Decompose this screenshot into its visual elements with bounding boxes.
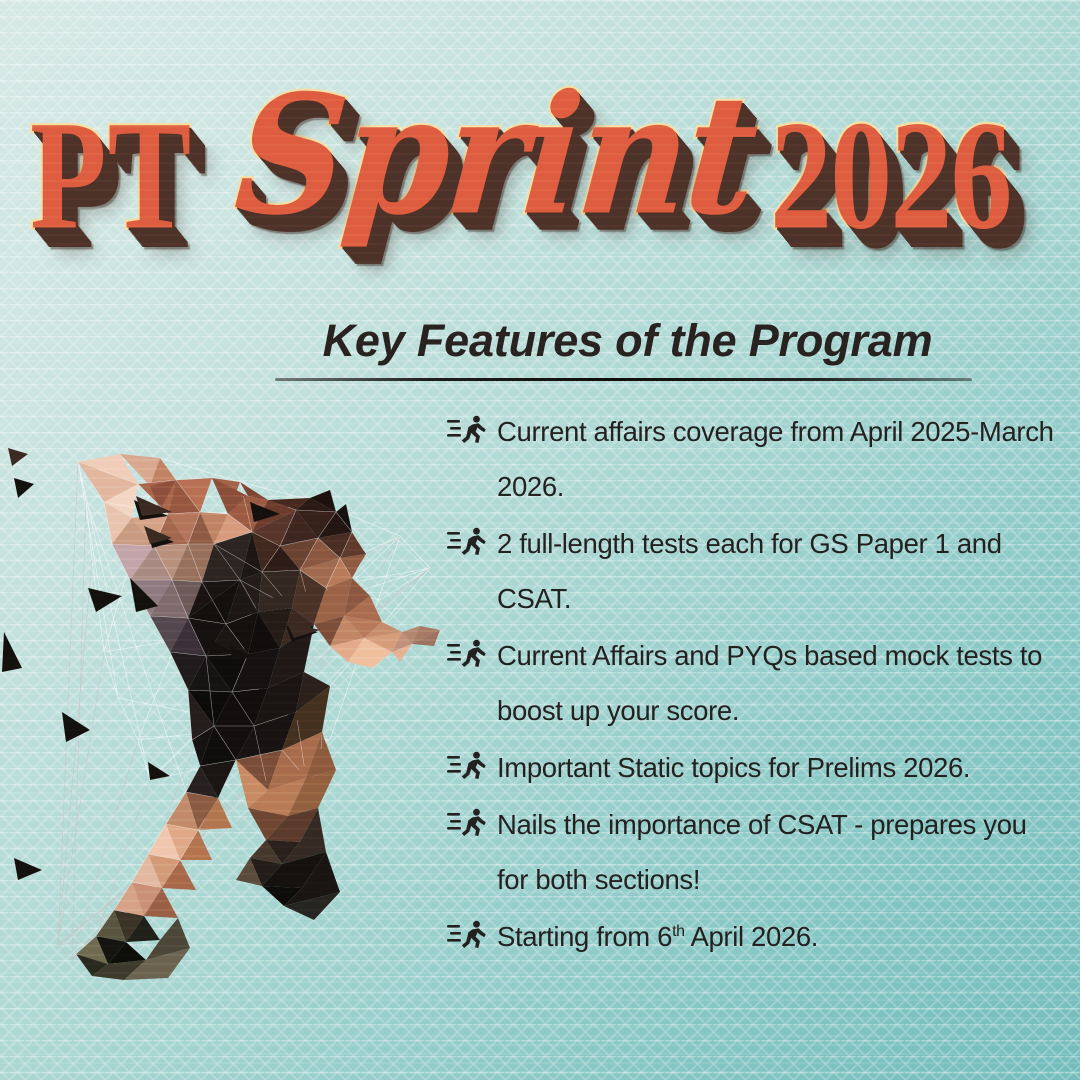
feature-text-start-date: Starting from 6th April 2026. bbox=[497, 909, 1062, 964]
feature-text: Nails the importance of CSAT - prepares … bbox=[497, 797, 1062, 907]
ordinal-suffix: th bbox=[672, 923, 685, 940]
sprinter-body-polygons bbox=[76, 454, 440, 980]
feature-text: Important Static topics for Prelims 2026… bbox=[497, 740, 1062, 795]
poster-title: PT Sprint 2026 bbox=[0, 52, 1080, 282]
feature-text: Current affairs coverage from April 2025… bbox=[497, 404, 1062, 514]
start-date-prefix: Starting from 6 bbox=[497, 921, 672, 952]
features-list: Current affairs coverage from April 2025… bbox=[447, 404, 1062, 966]
low-poly-sprinter-illustration bbox=[0, 440, 470, 985]
start-date-suffix: April 2026. bbox=[685, 921, 818, 952]
running-person-icon bbox=[447, 750, 487, 784]
list-item: Important Static topics for Prelims 2026… bbox=[447, 740, 1062, 795]
title-part-sprint: Sprint bbox=[229, 58, 761, 251]
running-person-icon bbox=[447, 919, 487, 953]
title-part-year: 2026 bbox=[770, 86, 1011, 265]
running-person-icon bbox=[447, 414, 487, 448]
title-part-pt: PT bbox=[30, 86, 192, 265]
list-item: 2 full-length tests each for GS Paper 1 … bbox=[447, 516, 1062, 626]
feature-text: 2 full-length tests each for GS Paper 1 … bbox=[497, 516, 1062, 626]
poster-canvas: PT Sprint 2026 Key Features of the Progr… bbox=[0, 0, 1080, 1080]
running-person-icon bbox=[447, 638, 487, 672]
section-heading-block: Key Features of the Program bbox=[275, 316, 980, 381]
running-person-icon bbox=[447, 526, 487, 560]
running-person-icon bbox=[447, 807, 487, 841]
list-item: Current Affairs and PYQs based mock test… bbox=[447, 628, 1062, 738]
section-heading: Key Features of the Program bbox=[275, 316, 980, 366]
feature-text: Current Affairs and PYQs based mock test… bbox=[497, 628, 1062, 738]
list-item: Nails the importance of CSAT - prepares … bbox=[447, 797, 1062, 907]
heading-underline bbox=[275, 378, 972, 381]
list-item: Current affairs coverage from April 2025… bbox=[447, 404, 1062, 514]
list-item: Starting from 6th April 2026. bbox=[447, 909, 1062, 964]
